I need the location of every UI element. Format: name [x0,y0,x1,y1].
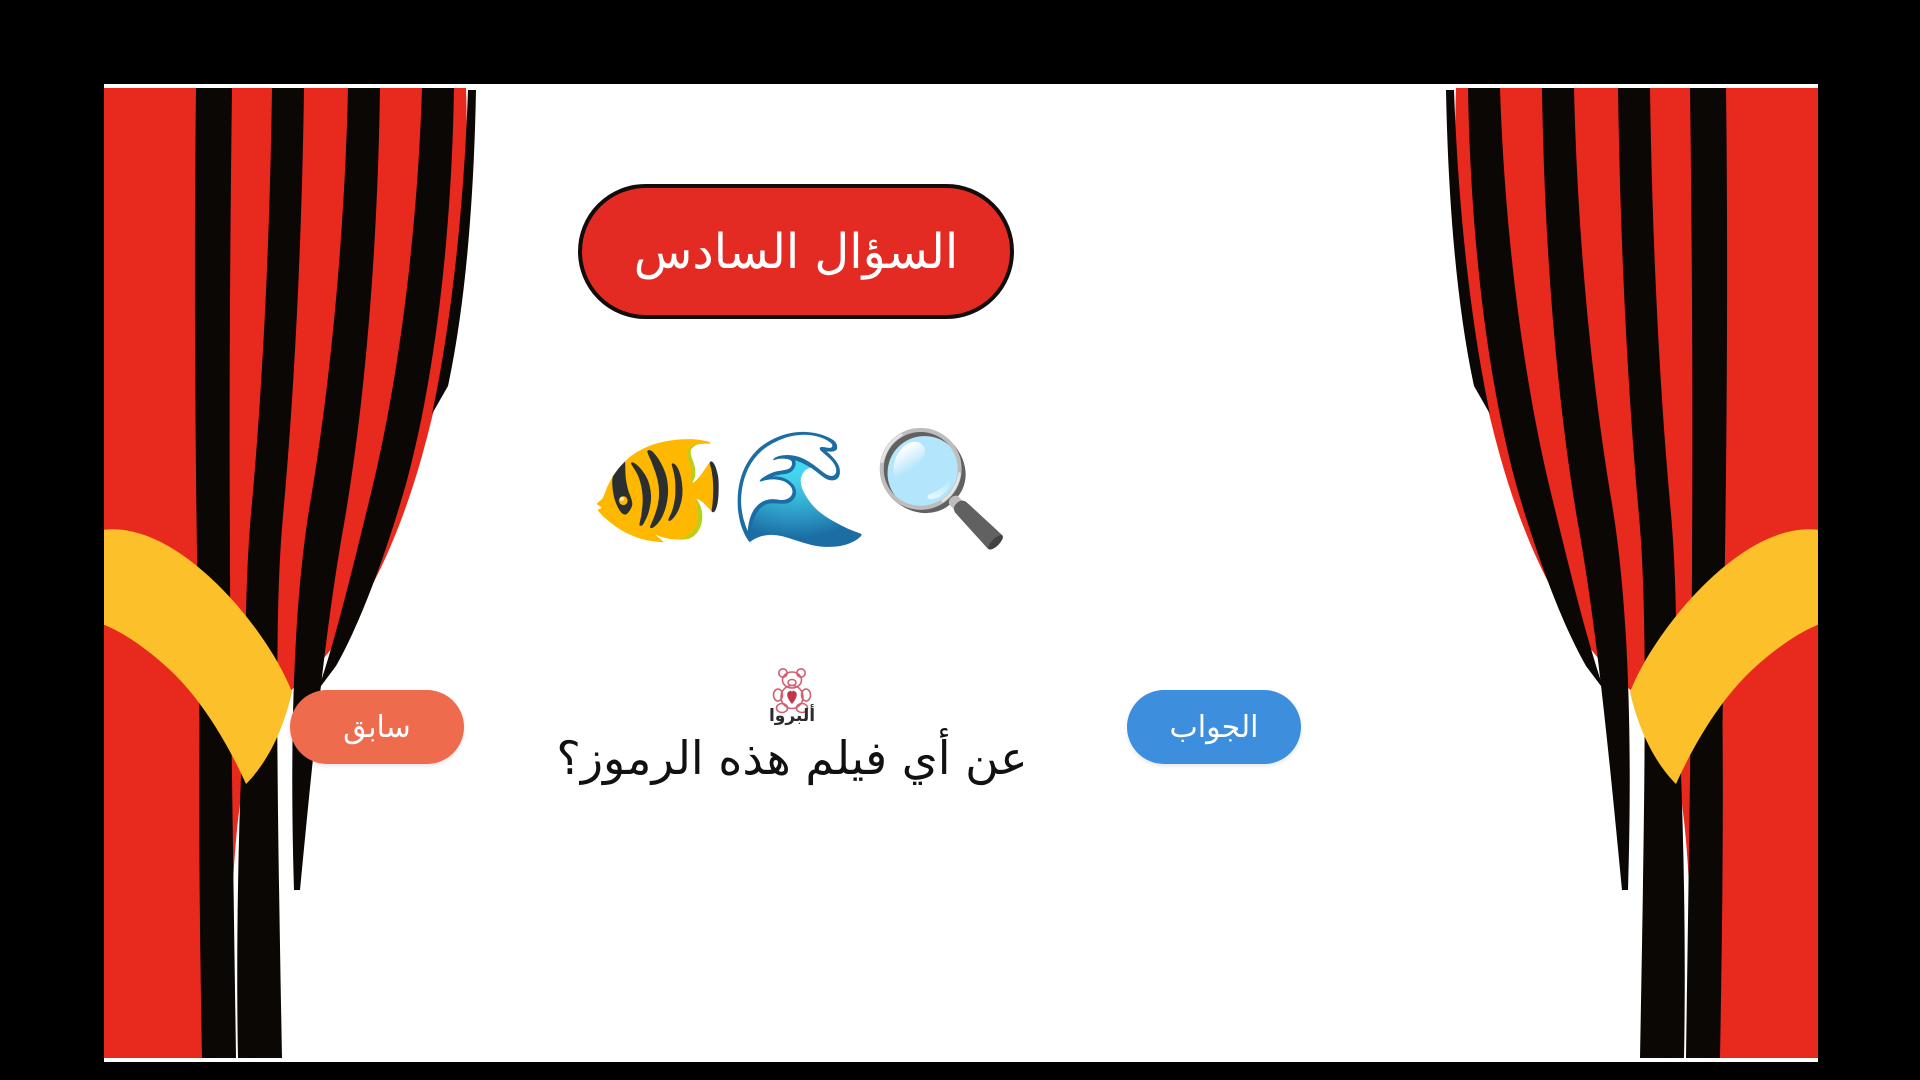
previous-button-label: سابق [343,710,411,745]
answer-button[interactable]: الجواب [1127,690,1301,764]
question-number-label: السؤال السادس [634,228,958,276]
bear-muzzle [788,680,796,686]
brand-logo: ألبروا [744,664,840,726]
water-wave-emoji: 🌊 [730,433,869,545]
quiz-slide: السؤال السادس 🐠 🌊 🔍 ألبروا [0,0,1920,1080]
question-number-badge: السؤال السادس [578,184,1014,319]
emoji-clue-row: 🐠 🌊 🔍 [600,424,1000,554]
bear-heart [787,691,797,704]
magnifying-glass-emoji: 🔍 [872,433,1011,545]
question-prompt-text: عن أي فيلم هذه الرموز؟ [380,730,1204,788]
previous-button[interactable]: سابق [290,690,464,764]
brand-wordmark: ألبروا [769,704,815,726]
answer-button-label: الجواب [1170,710,1259,745]
tropical-fish-emoji: 🐠 [589,433,728,545]
